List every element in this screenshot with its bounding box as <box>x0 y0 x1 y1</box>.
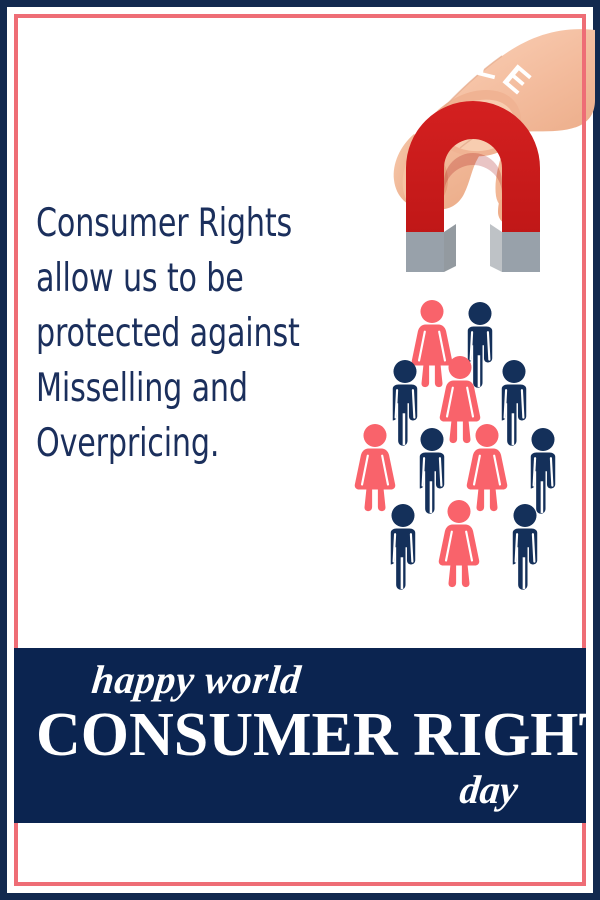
headline-line-5: Overpricing. <box>36 416 337 471</box>
person-icon-female <box>467 424 508 511</box>
bottom-banner: happy world CONSUMER RIGHTS day <box>14 648 586 823</box>
magnet-pole-right <box>502 232 540 272</box>
person-icon-female <box>355 424 396 511</box>
person-icon-male <box>420 428 444 514</box>
headline-line-1: Consumer Rights <box>36 196 337 251</box>
banner-happy-world-text: happy world <box>90 656 304 703</box>
headline-line-4: Misselling and <box>36 361 337 416</box>
headline-text: Consumer Rights allow us to be protected… <box>36 196 337 471</box>
banner-consumer-rights-title: CONSUMER RIGHTS <box>36 702 564 768</box>
person-icon-female <box>439 500 480 587</box>
headline-line-3: protected against <box>36 306 337 361</box>
crowd-row-4 <box>391 500 537 590</box>
person-icon-male <box>502 360 526 446</box>
hand-with-sale-magnet-illustration: SALE <box>360 22 595 302</box>
magnet-pole-left <box>406 232 444 272</box>
person-icon-male <box>391 504 415 590</box>
sale-magnet: SALE <box>405 45 541 272</box>
person-icon-male <box>531 428 555 514</box>
person-icon-male <box>513 504 537 590</box>
person-icon-male <box>393 360 417 446</box>
person-icon-male <box>468 302 492 388</box>
headline-line-2: allow us to be <box>36 251 337 306</box>
crowd-of-people-illustration <box>344 296 590 610</box>
crowd-row-2 <box>393 356 526 446</box>
poster-root: SALE Consumer Rights allow us to be prot… <box>0 0 600 900</box>
person-icon-female <box>412 300 453 387</box>
banner-day-text: day <box>458 766 521 813</box>
